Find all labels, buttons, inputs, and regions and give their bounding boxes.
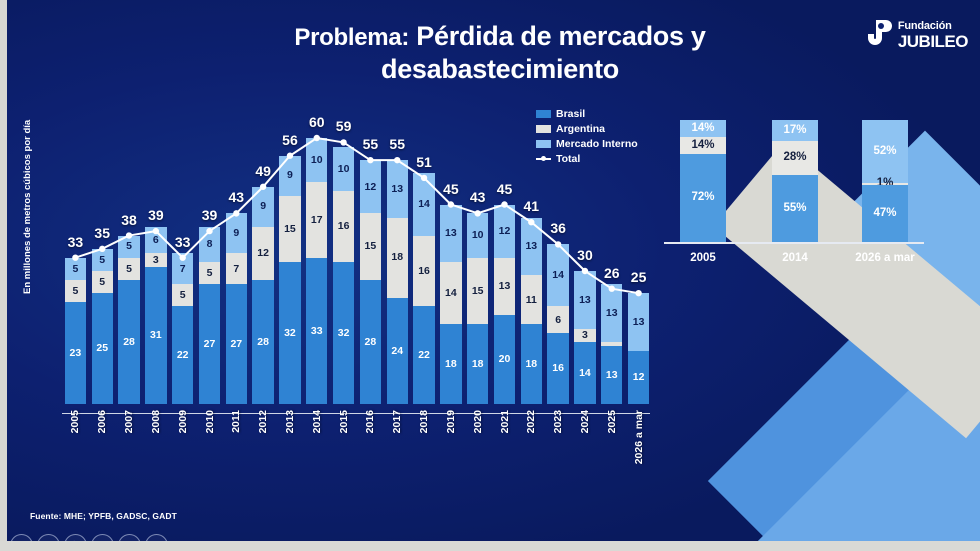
bar-column[interactable]: 5525 [92, 104, 113, 404]
title-line2: desabastecimiento [381, 54, 619, 84]
legend-swatch-icon [536, 140, 551, 148]
bar-segment-br: 28 [360, 280, 381, 404]
legend-item-total[interactable]: Total [536, 153, 638, 165]
share-segment-value: 55% [783, 203, 806, 215]
bar-segment-br: 28 [118, 280, 139, 404]
share-x-axis-tick-label: 2005 [655, 252, 751, 264]
bar-segment-br: 31 [145, 267, 166, 404]
logo-line2: JUBILEO [898, 33, 968, 50]
bar-segment-value: 22 [418, 350, 430, 361]
logo-wordmark: Fundación JUBILEO [898, 21, 968, 50]
legend-item-mercado-interno[interactable]: Mercado Interno [536, 138, 638, 150]
bar-segment-value: 18 [391, 252, 403, 263]
x-axis-tick-label: 2021 [499, 410, 511, 433]
share-x-axis-tick-label: 2014 [747, 252, 843, 264]
legend-item-argentina[interactable]: Argentina [536, 123, 638, 135]
bar-segment-br: 33 [306, 258, 327, 404]
legend-line-marker-icon [536, 155, 551, 163]
source-note: Fuente: MHE; YPFB, GADSC, GADT [30, 511, 177, 521]
bar-segment-ar: 5 [172, 284, 193, 306]
bar-segment-br: 14 [574, 342, 595, 404]
bar-segment-value: 17 [311, 215, 323, 226]
bar-segment-value: 9 [260, 201, 266, 212]
total-value-label: 45 [485, 181, 525, 197]
jubileo-mark-icon [868, 18, 894, 52]
bar-segment-ar: 14 [440, 262, 461, 324]
bar-segment-br: 18 [467, 324, 488, 404]
bar-segment-mi: 5 [118, 236, 139, 258]
share-bar-segment-br: 72% [680, 154, 726, 242]
bar-segment-value: 12 [633, 372, 645, 383]
total-value-label: 55 [377, 136, 417, 152]
bar-segment-value: 32 [284, 328, 296, 339]
bar-segment-value: 22 [177, 350, 189, 361]
x-axis-tick-label: 2026 a mar [633, 410, 645, 464]
bar-segment-value: 27 [204, 339, 216, 350]
bar-segment-value: 5 [72, 286, 78, 297]
bar-segment-value: 20 [499, 354, 511, 365]
total-value-label: 30 [565, 247, 605, 263]
bar-segment-br: 32 [333, 262, 354, 404]
bar-segment-value: 6 [555, 315, 561, 326]
x-axis-tick-label: 2018 [418, 410, 430, 433]
bar-segment-value: 13 [606, 308, 618, 319]
bar-segment-mi: 8 [199, 227, 220, 262]
total-value-label: 51 [404, 154, 444, 170]
bar-segment-value: 5 [126, 241, 132, 252]
total-value-label: 43 [216, 189, 256, 205]
bar-segment-ar: 6 [547, 306, 568, 333]
total-value-label: 25 [619, 269, 659, 285]
bar-segment-value: 28 [365, 337, 377, 348]
total-value-label: 39 [136, 207, 176, 223]
bar-segment-value: 15 [472, 286, 484, 297]
bar-segment-value: 9 [287, 170, 293, 181]
bar-segment-ar: 11 [521, 275, 542, 324]
bar-segment-ar: 5 [65, 280, 86, 302]
bar-segment-value: 18 [525, 359, 537, 370]
bar-segment-value: 10 [338, 164, 350, 175]
bar-segment-ar: 15 [360, 213, 381, 280]
bar-segment-ar: 13 [494, 258, 515, 316]
bar-segment-value: 27 [230, 339, 242, 350]
title-main: Pérdida de mercados y [409, 21, 706, 51]
x-axis-tick-label: 2015 [338, 410, 350, 433]
bar-segment-ar: 15 [279, 196, 300, 263]
share-bar-segment-ar: 14% [680, 137, 726, 154]
bar-segment-value: 16 [552, 363, 564, 374]
share-x-axis-tick-label: 2026 a mar [837, 252, 933, 264]
bar-segment-value: 10 [472, 230, 484, 241]
bar-segment-ar: 5 [118, 258, 139, 280]
bar-segment-br: 32 [279, 262, 300, 404]
bar-segment-value: 18 [472, 359, 484, 370]
bar-segment-value: 5 [207, 268, 213, 279]
page-title: Problema: Pérdida de mercados y desabast… [180, 20, 820, 86]
bar-segment-value: 28 [257, 337, 269, 348]
x-axis-tick-label: 2016 [364, 410, 376, 433]
bar-segment-value: 11 [526, 295, 537, 306]
share-segment-value: 47% [873, 208, 896, 220]
slide-canvas: Problema: Pérdida de mercados y desabast… [0, 0, 980, 551]
bar-segment-value: 15 [284, 224, 296, 235]
share-segment-value: 72% [691, 192, 714, 204]
bar-segment-value: 12 [257, 248, 269, 259]
bar-segment-value: 14 [418, 199, 430, 210]
share-stacked-bar-chart: 14%14%72%200517%28%55%201452%1%47%2026 a… [662, 104, 932, 264]
bar-segment-value: 7 [180, 264, 186, 275]
bar-segment-value: 5 [99, 255, 105, 266]
share-segment-value: 17% [783, 125, 806, 137]
bar-segment-br: 24 [387, 298, 408, 404]
share-segment-value: 52% [873, 146, 896, 158]
bar-segment-br: 23 [65, 302, 86, 404]
x-axis-tick-label: 2005 [69, 410, 81, 433]
bar-segment-value: 28 [123, 337, 135, 348]
bar-segment-value: 10 [311, 155, 323, 166]
bar-segment-value: 8 [207, 239, 213, 250]
x-axis-tick-label: 2017 [391, 410, 403, 433]
total-value-label: 41 [511, 198, 551, 214]
x-axis-tick-label: 2008 [150, 410, 162, 433]
x-axis-tick-label: 2006 [96, 410, 108, 433]
share-bar-segment-br: 47% [862, 185, 908, 242]
x-axis-tick-label: 2019 [445, 410, 457, 433]
bar-segment-value: 32 [338, 328, 350, 339]
bar-segment-br: 20 [494, 315, 515, 404]
bar-column[interactable]: 121320 [494, 104, 515, 404]
bar-segment-value: 18 [445, 359, 457, 370]
total-value-label: 36 [538, 220, 578, 236]
x-axis-tick-label: 2014 [311, 410, 323, 433]
share-bar-column[interactable]: 14%14%72% [680, 120, 726, 242]
bar-segment-value: 13 [579, 295, 591, 306]
bar-segment-br: 18 [440, 324, 461, 404]
bar-segment-value: 13 [525, 241, 537, 252]
bar-segment-value: 5 [99, 277, 105, 288]
bar-segment-value: 25 [96, 343, 108, 354]
bar-segment-value: 33 [311, 326, 323, 337]
share-bar-segment-mi: 52% [862, 120, 908, 183]
bar-column[interactable]: 91228 [252, 104, 273, 404]
bar-segment-mi: 12 [360, 160, 381, 213]
total-value-label: 39 [190, 207, 230, 223]
x-axis-tick-label: 2025 [606, 410, 618, 433]
bar-segment-value: 13 [499, 281, 511, 292]
bar-segment-mi: 7 [172, 253, 193, 284]
bar-segment-mi: 13 [601, 284, 622, 342]
jubileo-logo: Fundación JUBILEO [868, 18, 968, 52]
bar-segment-value: 13 [445, 228, 457, 239]
bar-segment-br: 22 [172, 306, 193, 404]
bar-segment-value: 3 [153, 255, 159, 266]
bar-segment-mi: 10 [333, 147, 354, 191]
bar-column[interactable]: 5523 [65, 104, 86, 404]
bar-segment-mi: 5 [92, 249, 113, 271]
bar-segment-value: 16 [418, 266, 430, 277]
share-bar-segment-mi: 17% [772, 120, 818, 141]
bar-segment-br: 28 [252, 280, 273, 404]
share-segment-value: 28% [783, 152, 806, 164]
bar-segment-br: 27 [199, 284, 220, 404]
legend-item-brasil[interactable]: Brasil [536, 108, 638, 120]
x-axis-tick-label: 2011 [230, 410, 242, 433]
bar-column[interactable]: 141622 [413, 104, 434, 404]
bar-segment-value: 16 [338, 221, 350, 232]
bar-segment-value: 3 [582, 330, 588, 341]
bar-segment-value: 15 [365, 241, 377, 252]
share-x-axis-line [664, 242, 924, 244]
x-axis-tick-label: 2009 [177, 410, 189, 433]
logo-line1: Fundación [898, 21, 968, 32]
x-axis-tick-label: 2013 [284, 410, 296, 433]
bar-column[interactable]: 8527 [199, 104, 220, 404]
bar-segment-br: 25 [92, 293, 113, 404]
bar-segment-br: 22 [413, 306, 434, 404]
bar-segment-mi: 13 [440, 205, 461, 263]
bar-column[interactable]: 9727 [226, 104, 247, 404]
bar-segment-value: 6 [153, 235, 159, 246]
chart-legend: BrasilArgentinaMercado InternoTotal [536, 108, 638, 165]
legend-label: Argentina [556, 123, 605, 135]
bar-segment-ar: 5 [199, 262, 220, 284]
bar-segment-value: 9 [233, 228, 239, 239]
bar-segment-value: 5 [180, 290, 186, 301]
bar-segment-ar: 15 [467, 258, 488, 325]
bar-column[interactable]: 7522 [172, 104, 193, 404]
total-value-label: 33 [163, 234, 203, 250]
bar-segment-ar: 16 [413, 236, 434, 307]
legend-label: Mercado Interno [556, 138, 638, 150]
bar-segment-value: 12 [499, 226, 511, 237]
share-segment-value: 14% [691, 140, 714, 152]
bar-segment-mi: 9 [226, 213, 247, 253]
bar-segment-value: 14 [552, 270, 564, 281]
bar-segment-br: 27 [226, 284, 247, 404]
bottom-edge-strip [0, 541, 980, 551]
bar-segment-value: 12 [365, 182, 377, 193]
bar-segment-ar: 16 [333, 191, 354, 262]
share-bar-column[interactable]: 52%1%47% [862, 120, 908, 242]
x-axis-tick-label: 2023 [552, 410, 564, 433]
bar-segment-br: 12 [628, 351, 649, 404]
bar-segment-br: 13 [601, 346, 622, 404]
bar-segment-value: 14 [579, 368, 591, 379]
legend-swatch-icon [536, 110, 551, 118]
bar-column[interactable]: 91532 [279, 104, 300, 404]
share-bar-segment-mi: 14% [680, 120, 726, 137]
legend-swatch-icon [536, 125, 551, 133]
bar-segment-value: 31 [150, 330, 162, 341]
total-value-label: 59 [324, 118, 364, 134]
total-value-label: 56 [270, 132, 310, 148]
bar-segment-ar: 18 [387, 218, 408, 298]
x-axis-tick-label: 2007 [123, 410, 135, 433]
bar-column[interactable]: 101733 [306, 104, 327, 404]
x-axis-tick-label: 2012 [257, 410, 269, 433]
legend-label: Brasil [556, 108, 585, 120]
bar-column[interactable]: 5528 [118, 104, 139, 404]
bar-segment-value: 24 [391, 346, 403, 357]
bar-segment-br: 16 [547, 333, 568, 404]
total-value-label: 49 [243, 163, 283, 179]
bar-segment-value: 5 [126, 264, 132, 275]
x-axis-tick-label: 2022 [525, 410, 537, 433]
share-bar-column[interactable]: 17%28%55% [772, 120, 818, 242]
bar-segment-value: 13 [391, 184, 403, 195]
bar-segment-value: 7 [233, 264, 239, 275]
bar-segment-ar: 5 [92, 271, 113, 293]
bar-segment-value: 14 [445, 288, 457, 299]
bar-segment-value: 23 [70, 348, 82, 359]
bar-column[interactable]: 6331 [145, 104, 166, 404]
bar-segment-mi: 9 [279, 156, 300, 196]
bar-segment-value: 13 [606, 370, 618, 381]
share-bar-segment-br: 55% [772, 175, 818, 242]
bar-segment-br: 18 [521, 324, 542, 404]
left-edge-strip [0, 0, 7, 551]
bar-column[interactable]: 131418 [440, 104, 461, 404]
legend-label: Total [556, 153, 580, 165]
share-bar-segment-ar: 28% [772, 141, 818, 175]
bar-segment-mi: 5 [65, 258, 86, 280]
bar-segment-mi: 10 [467, 213, 488, 257]
bar-segment-ar: 7 [226, 253, 247, 284]
x-axis-tick-label: 2010 [204, 410, 216, 433]
share-segment-value: 14% [691, 123, 714, 135]
bar-segment-value: 5 [72, 264, 78, 275]
bar-segment-ar: 12 [252, 227, 273, 280]
bar-column[interactable]: 101518 [467, 104, 488, 404]
bar-segment-mi: 9 [252, 187, 273, 227]
bar-segment-mi: 13 [628, 293, 649, 351]
bar-segment-ar: 3 [574, 329, 595, 342]
bar-segment-mi: 10 [306, 138, 327, 182]
bar-segment-ar: 17 [306, 182, 327, 257]
bar-segment-value: 13 [633, 317, 645, 328]
x-axis-tick-label: 2020 [472, 410, 484, 433]
bar-segment-ar: 3 [145, 253, 166, 266]
x-axis-tick-label: 2024 [579, 410, 591, 433]
title-lead: Problema: [294, 24, 409, 51]
